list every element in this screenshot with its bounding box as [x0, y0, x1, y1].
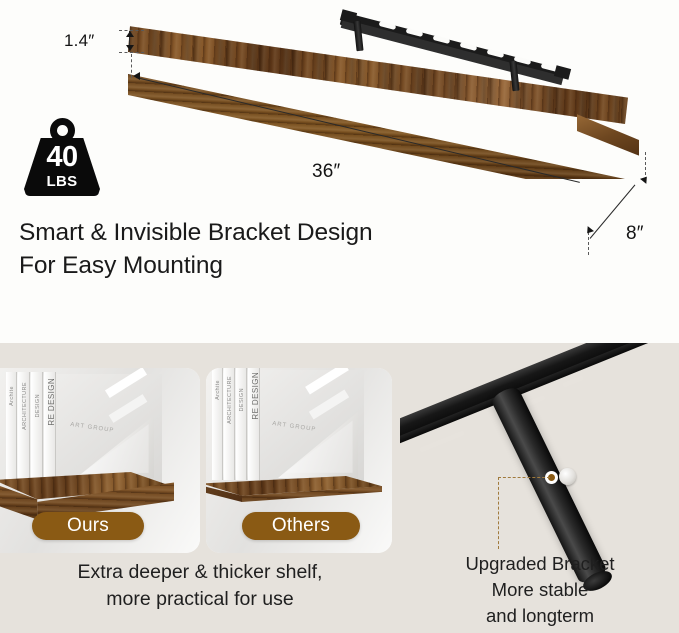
weight-value: 40 — [20, 143, 104, 172]
book-label: ARCHITECTURE — [22, 382, 28, 430]
dashed-callout-line-icon — [498, 477, 550, 549]
infographic-page: 1.4″ 36″ 8″ 40 LBS Smart & Invisible Bra… — [0, 0, 679, 633]
bracket-bar-face — [341, 19, 564, 85]
weight-capacity-badge: 40 LBS — [20, 118, 104, 200]
comparison-card-ours[interactable]: ART GROUP Archite ARCHITECTURE DES — [0, 368, 200, 553]
bracket-washer-icon — [559, 468, 576, 485]
book-label: RE DESIGN — [47, 378, 56, 426]
book-label: Archite — [215, 380, 221, 400]
bracket-detail-caption: Upgraded Bracket More stable and longter… — [410, 551, 670, 629]
hero-headline: Smart & Invisible Bracket Design For Eas… — [19, 216, 373, 282]
bracket-detail-panel: Upgraded Bracket More stable and longter… — [400, 343, 679, 633]
length-arrow-left — [133, 72, 140, 80]
book-stack: Archite ARCHITECTURE DESIGN RE DESIGN — [212, 368, 260, 480]
mounting-bracket-icon — [333, 3, 573, 95]
comparison-caption: Extra deeper & thicker shelf, more pract… — [0, 559, 400, 613]
book-label: RE DESIGN — [251, 372, 260, 420]
thickness-arrow-up — [126, 31, 134, 37]
thickness-ext-line-bottom — [119, 52, 144, 53]
comparison-cards: ART GROUP Archite ARCHITECTURE DES — [0, 368, 400, 553]
book-label: DESIGN — [35, 394, 41, 418]
badge-ours: Ours — [32, 512, 144, 540]
bracket-slot — [562, 375, 584, 388]
comparison-card-others[interactable]: ART GROUP Archite ARCHITECTURE DESIGN RE… — [206, 368, 392, 553]
length-label: 36″ — [312, 161, 340, 183]
thickness-label: 1.4″ — [64, 31, 94, 51]
badge-others: Others — [242, 512, 360, 540]
length-ext-line-left — [131, 54, 132, 78]
thickness-arrow-down — [126, 45, 134, 51]
book-label: DESIGN — [239, 388, 245, 412]
book-spine — [31, 372, 43, 480]
bottom-features-section: ART GROUP Archite ARCHITECTURE DES — [0, 343, 679, 633]
book-spine — [236, 368, 247, 480]
weight-unit: LBS — [20, 174, 104, 189]
book-label: Archite — [9, 386, 15, 406]
top-hero-section: 1.4″ 36″ 8″ 40 LBS Smart & Invisible Bra… — [0, 0, 679, 343]
book-label: ARCHITECTURE — [227, 376, 233, 424]
depth-label: 8″ — [626, 223, 644, 245]
bracket-slot — [419, 430, 465, 453]
book-stack: Archite ARCHITECTURE DESIGN RE DESIGN — [6, 372, 56, 480]
